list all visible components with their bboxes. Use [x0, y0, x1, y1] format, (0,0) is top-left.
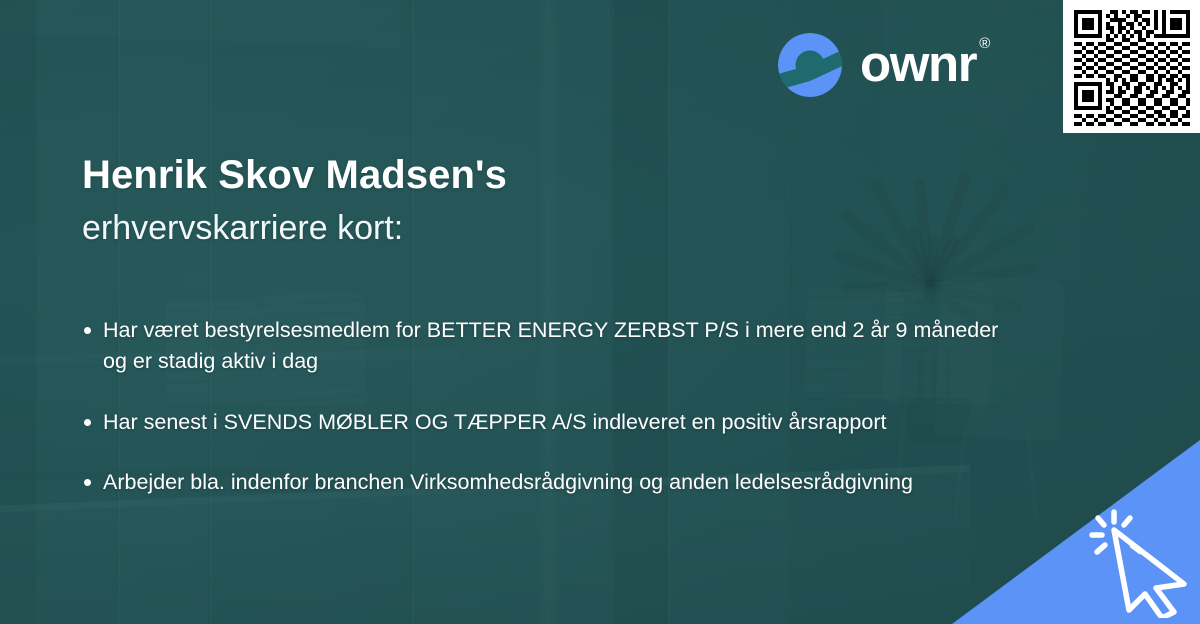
- list-item: Har været bestyrelsesmedlem for BETTER E…: [82, 315, 1012, 378]
- page-subtitle: erhvervskarriere kort:: [82, 211, 842, 245]
- bullet-dot-icon: [84, 327, 91, 334]
- career-card: ownr ® Henrik Skov Madsen's erhvervskarr…: [0, 0, 1200, 624]
- career-bullet-list: Har været bestyrelsesmedlem for BETTER E…: [82, 315, 1012, 499]
- title-block: Henrik Skov Madsen's erhvervskarriere ko…: [82, 155, 842, 245]
- list-item: Arbejder bla. indenfor branchen Virksomh…: [82, 467, 1012, 498]
- list-item-text: Arbejder bla. indenfor branchen Virksomh…: [103, 470, 913, 494]
- ownr-logo[interactable]: ownr ®: [777, 32, 987, 98]
- list-item-text: Har været bestyrelsesmedlem for BETTER E…: [103, 318, 998, 373]
- list-item-text: Har senest i SVENDS MØBLER OG TÆPPER A/S…: [103, 410, 886, 434]
- bullet-dot-icon: [84, 479, 91, 486]
- ownr-circle-swirl-icon: [777, 32, 843, 98]
- card-content: ownr ® Henrik Skov Madsen's erhvervskarr…: [0, 0, 1200, 624]
- list-item: Har senest i SVENDS MØBLER OG TÆPPER A/S…: [82, 407, 1012, 438]
- registered-trademark-icon: ®: [979, 35, 990, 52]
- qr-code-panel[interactable]: [1063, 0, 1200, 133]
- ownr-wordmark: ownr: [860, 38, 976, 89]
- page-title: Henrik Skov Madsen's: [82, 155, 842, 195]
- qr-code-image: [1074, 10, 1190, 126]
- corner-accent-triangle: [0, 0, 1200, 624]
- bullet-dot-icon: [84, 419, 91, 426]
- click-cursor-icon: [1088, 506, 1200, 618]
